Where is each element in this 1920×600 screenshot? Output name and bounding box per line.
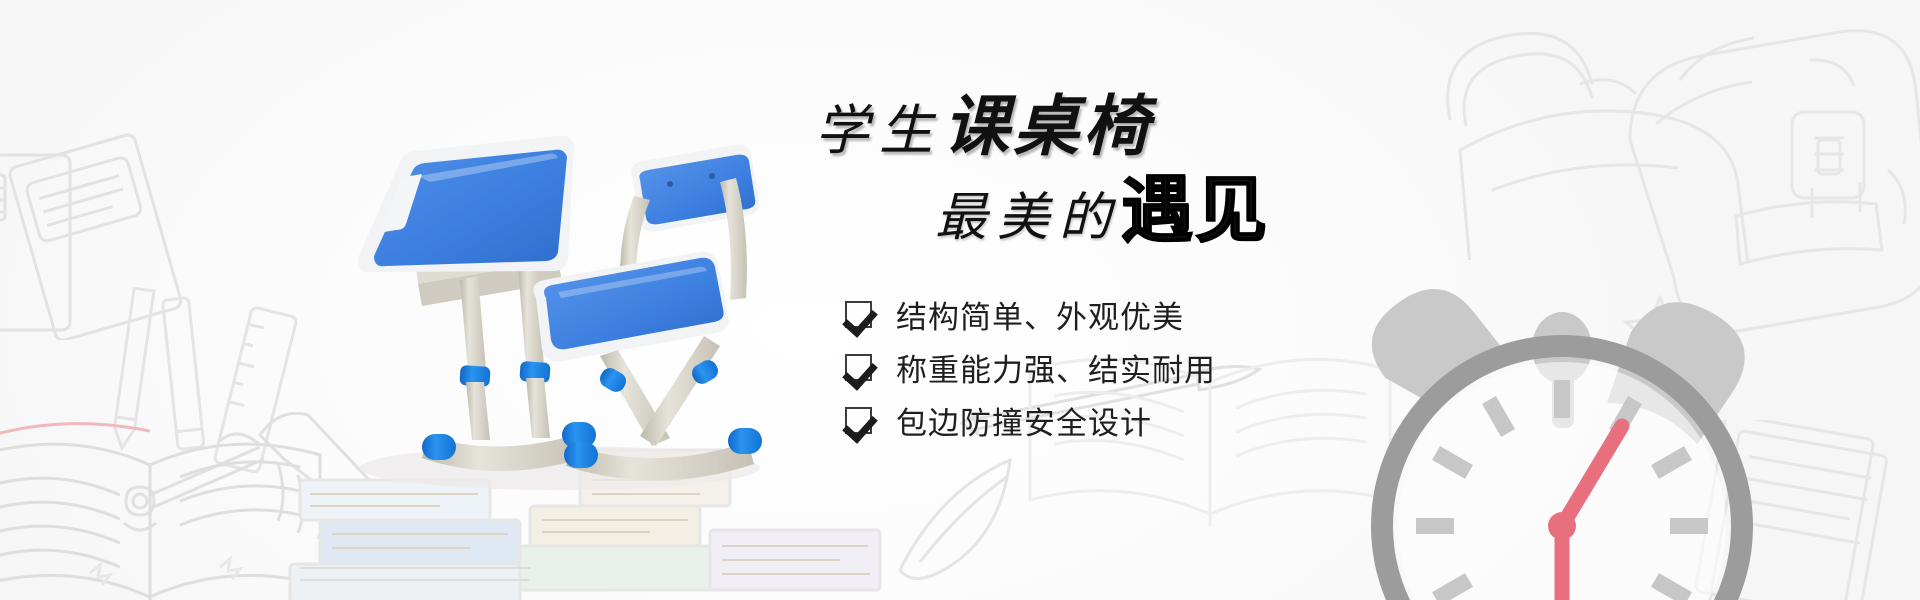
student-desk-and-chair-image	[300, 70, 820, 500]
backpack-outline-illustration	[1560, 20, 1920, 350]
promo-banner: 学生课桌椅 最美的遇见 结构简单、外观优美 称重能力强、结实耐用 包边防撞安全设…	[0, 0, 1920, 600]
headline-line-2: 最美的遇见	[935, 175, 1515, 247]
feature-item: 结构简单、外观优美	[845, 291, 1515, 337]
headline-line-2-heavy: 遇见	[1121, 171, 1269, 251]
feature-label: 称重能力强、结实耐用	[896, 345, 1216, 390]
banner-copy: 学生课桌椅 最美的遇见 结构简单、外观优美 称重能力强、结实耐用 包边防撞安全设…	[815, 95, 1515, 450]
checkbox-checked-icon	[845, 407, 872, 434]
checkbox-checked-icon	[845, 301, 872, 328]
headline-line-1-light: 学生	[815, 101, 943, 161]
feature-label: 结构简单、外观优美	[896, 292, 1184, 337]
headline-line-2-light: 最美的	[935, 190, 1121, 247]
book-red-edge-accent	[0, 395, 230, 455]
feature-item: 包边防撞安全设计	[845, 397, 1515, 443]
notebooks-outline-illustration	[0, 110, 260, 340]
feature-list: 结构简单、外观优美 称重能力强、结实耐用 包边防撞安全设计	[845, 291, 1515, 443]
headline-line-1: 学生课桌椅	[815, 95, 1515, 161]
exercise-books-outline-illustration	[1680, 420, 1920, 600]
star-sticker-outline-illustration	[1620, 290, 1700, 370]
leaf-outline-illustration	[880, 440, 1040, 590]
checkbox-checked-icon	[845, 354, 872, 381]
feature-item: 称重能力强、结实耐用	[845, 344, 1515, 390]
headline-line-1-bold: 课桌椅	[943, 91, 1153, 164]
feature-label: 包边防撞安全设计	[896, 398, 1152, 443]
